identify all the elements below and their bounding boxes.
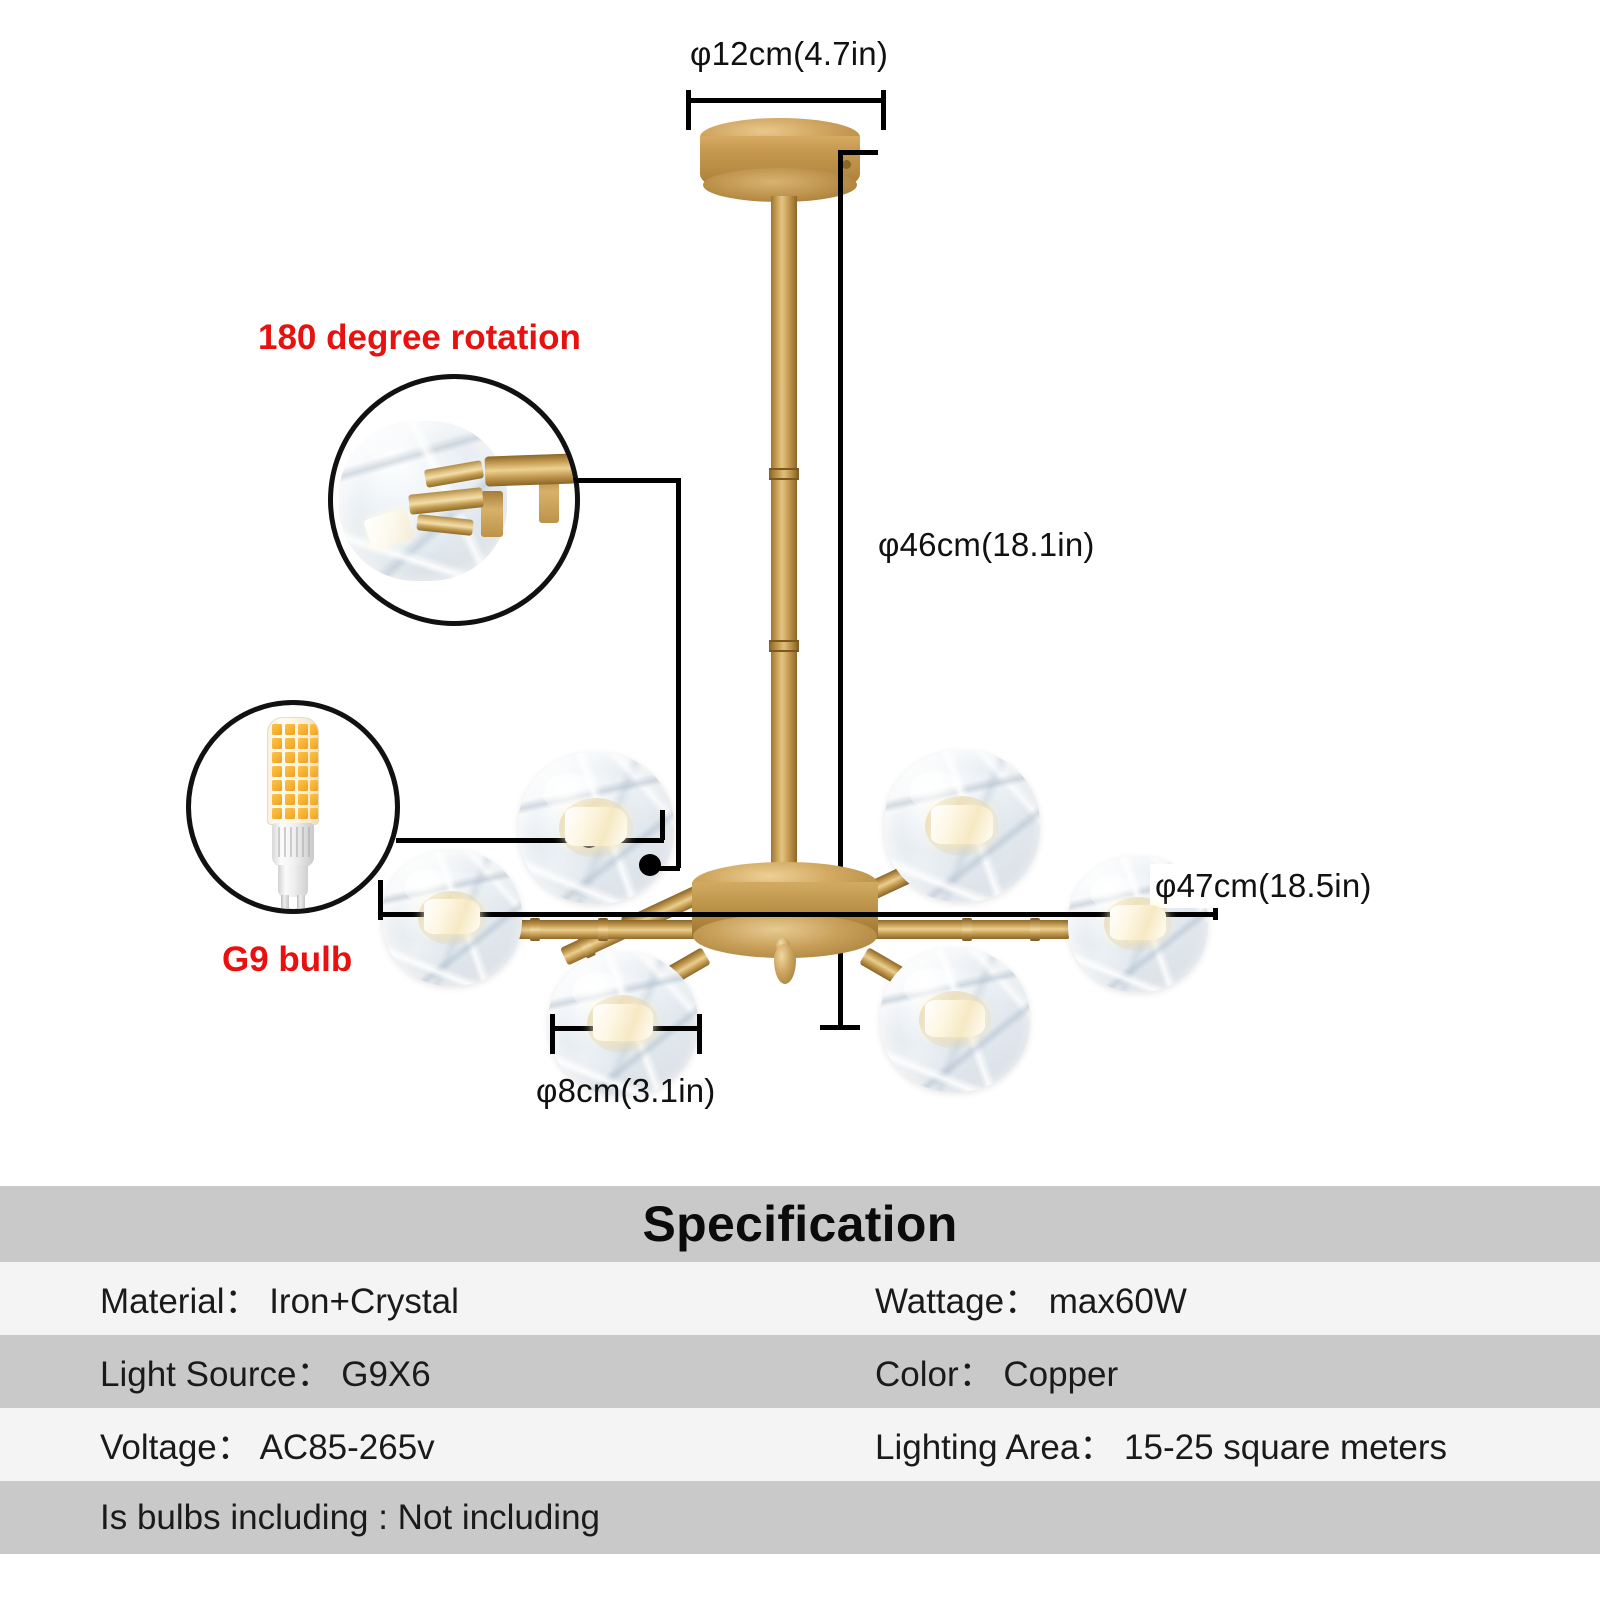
crystal-globe-mid-left [382, 850, 522, 986]
crystal-globe-lower-right [880, 948, 1030, 1092]
annotation-bulb-note: G9 bulb [222, 940, 352, 980]
table-row: Voltage： AC85-265v Lighting Area： 15-25 … [0, 1408, 1600, 1481]
specification-title: Specification [642, 1195, 957, 1253]
g9-pin-right [297, 895, 305, 914]
globe-bulb [424, 899, 480, 934]
arm-ring [1030, 918, 1040, 941]
dimension-tick-canopy-left [686, 90, 691, 130]
arm-ring [598, 918, 608, 941]
dimension-line-canopy-diameter [686, 98, 886, 103]
spec-color: Color： Copper [875, 1346, 1118, 1397]
leader-dot-rotation [639, 854, 661, 876]
arm-ring [530, 918, 540, 941]
dimension-label-canopy-diameter: φ12cm(4.7in) [690, 35, 888, 73]
detail-swivel-arm [485, 453, 578, 486]
product-diagram: φ12cm(4.7in) φ46cm(18.1in) [0, 0, 1600, 1186]
g9-glass-body [267, 717, 319, 825]
dimension-tick-height-top [838, 150, 878, 155]
spec-light-source: Light Source： G9X6 [100, 1346, 431, 1397]
spec-material: Material： Iron+Crystal [100, 1273, 459, 1324]
leader-line-rotation-h2 [650, 866, 680, 871]
crystal-globe-upper-right [884, 750, 1040, 902]
globe-bulb [593, 1004, 653, 1041]
dimension-line-overall-width [378, 912, 1218, 917]
leader-line-rotation-v [676, 478, 681, 868]
detail-swivel-plate [481, 491, 503, 537]
down-rod [771, 196, 797, 876]
rod-joint-upper [769, 468, 799, 480]
g9-base-neck [278, 865, 308, 897]
spec-lighting-area: Lighting Area： 15-25 square meters [875, 1419, 1447, 1470]
specification-header: Specification [0, 1186, 1600, 1262]
spec-wattage: Wattage： max60W [875, 1273, 1187, 1324]
dimension-tick-height-bottom [820, 1025, 860, 1030]
globe-bulb [931, 805, 993, 845]
globe-bulb [1110, 905, 1166, 940]
table-row: Light Source： G9X6 Color： Copper [0, 1335, 1600, 1408]
globe-bulb [565, 807, 627, 847]
dimension-tick-globe-left [550, 1014, 555, 1054]
spec-bulbs-included: Is bulbs including : Not including [100, 1498, 600, 1538]
dimension-label-drop-height: φ46cm(18.1in) [872, 522, 1101, 568]
hub-finial [774, 944, 796, 984]
table-row: Is bulbs including : Not including [0, 1481, 1600, 1554]
globe-bulb [925, 1000, 985, 1037]
leader-line-rotation-h1 [565, 478, 681, 483]
arm-mid-left [500, 920, 700, 939]
dimension-tick-canopy-right [881, 90, 886, 130]
canopy-screw [842, 160, 851, 169]
crystal-globe-upper-left [518, 752, 674, 904]
detail-circle-g9-bulb [186, 700, 400, 914]
leader-line-bulb-v [660, 810, 665, 840]
spec-voltage: Voltage： AC85-265v [100, 1419, 435, 1470]
g9-ceramic-base [272, 823, 314, 867]
dimension-label-globe-diameter: φ8cm(3.1in) [536, 1072, 715, 1110]
arm-mid-right [870, 920, 1070, 939]
rod-joint-lower [769, 640, 799, 652]
table-row: Material： Iron+Crystal Wattage： max60W [0, 1262, 1600, 1335]
dimension-tick-globe-right [697, 1014, 702, 1054]
annotation-rotation-note: 180 degree rotation [258, 318, 581, 358]
arm-ring [962, 918, 972, 941]
g9-pin-left [281, 895, 289, 914]
dimension-tick-width-left [378, 880, 383, 920]
detail-circle-rotation [328, 374, 580, 626]
dimension-label-overall-width: φ47cm(18.5in) [1150, 864, 1377, 908]
specification-table: Specification Material： Iron+Crystal Wat… [0, 1186, 1600, 1600]
